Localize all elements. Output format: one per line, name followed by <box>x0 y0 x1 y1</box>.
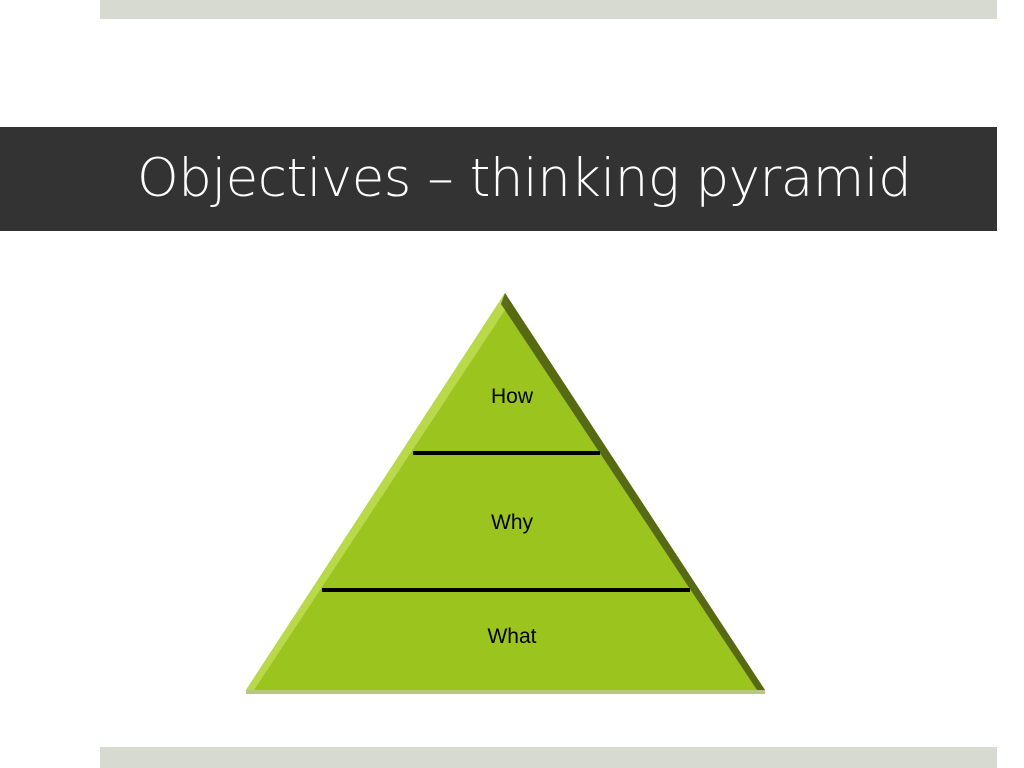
pyramid-base-shadow <box>246 690 765 694</box>
pyramid-tier-label-what: What <box>392 626 632 647</box>
thinking-pyramid-diagram: How Why What <box>230 280 790 705</box>
pyramid-tier-label-why: Why <box>392 512 632 533</box>
decorative-band-bottom <box>100 747 997 768</box>
title-bar: Objectives – thinking pyramid <box>0 127 997 231</box>
page-title: Objectives – thinking pyramid <box>137 151 911 207</box>
pyramid-tier-label-how: How <box>392 386 632 407</box>
decorative-band-top <box>100 0 997 19</box>
slide: Objectives – thinking pyramid How Why Wh… <box>0 0 1024 768</box>
